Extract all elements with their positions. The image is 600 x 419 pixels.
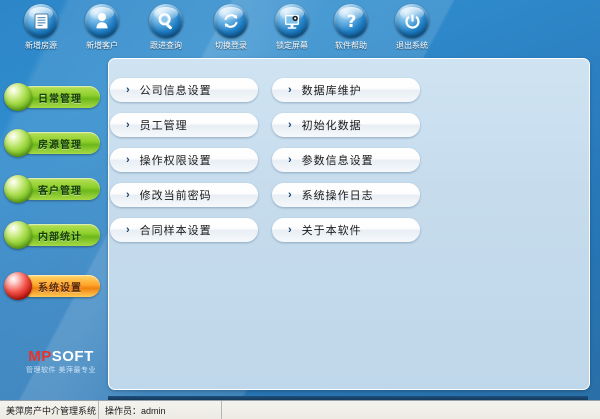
toolbar-label: 新增房源: [10, 41, 72, 51]
logo-mark-mp: MP: [28, 348, 52, 365]
sidebar-orb-icon: [4, 129, 32, 157]
menu-button-label: 员工管理: [140, 117, 188, 133]
sidebar-item-label: 系统设置: [38, 279, 82, 294]
logo-wordmark: MPSOFT: [18, 348, 104, 365]
menu-button-label: 修改当前密码: [140, 187, 212, 203]
menu-button-label: 初始化数据: [302, 117, 362, 133]
toolbar-button-new-property[interactable]: 新增房源: [10, 4, 72, 51]
chevron-right-icon: ›: [288, 85, 292, 96]
statusbar-operator: 操作员：admin: [99, 401, 222, 419]
toolbar-label: 软件帮助: [320, 41, 382, 51]
menu-button-contract-template-settings[interactable]: › 合同样本设置: [110, 218, 258, 242]
chevron-right-icon: ›: [126, 85, 130, 96]
sidebar-item-internal-statistics[interactable]: 内部统计: [2, 220, 102, 250]
sidebar-item-label: 日常管理: [38, 90, 82, 105]
chevron-right-icon: ›: [288, 120, 292, 131]
sidebar-item-system-settings[interactable]: 系统设置: [2, 271, 102, 301]
menu-button-parameter-info-settings[interactable]: › 参数信息设置: [272, 148, 420, 172]
menu-button-employee-management[interactable]: › 员工管理: [110, 113, 258, 137]
menu-button-label: 关于本软件: [302, 222, 362, 238]
toolbar-button-followup-query[interactable]: 跟进查询: [135, 4, 197, 51]
settings-button-grid: › 公司信息设置 › 数据库维护 › 员工管理 › 初始化数据 › 操作权限设置…: [110, 78, 420, 242]
chevron-right-icon: ›: [288, 225, 292, 236]
sidebar-orb-icon: [4, 221, 32, 249]
refresh-icon: [214, 4, 248, 38]
toolbar-button-help[interactable]: ? 软件帮助: [320, 4, 382, 51]
menu-button-system-operation-log[interactable]: › 系统操作日志: [272, 183, 420, 207]
search-icon: [149, 4, 183, 38]
sidebar-item-customer-management[interactable]: 客户管理: [2, 174, 102, 204]
sidebar-item-property-management[interactable]: 房源管理: [2, 128, 102, 158]
toolbar-button-new-customer[interactable]: 新增客户: [71, 4, 133, 51]
statusbar-extra: [222, 401, 600, 419]
menu-button-label: 公司信息设置: [140, 82, 212, 98]
toolbar-label: 跟进查询: [135, 41, 197, 51]
sidebar-pill: 系统设置: [20, 275, 100, 297]
logo-tagline: 管理软件 美萍最专业: [18, 366, 104, 375]
menu-button-label: 数据库维护: [302, 82, 362, 98]
menu-button-initialize-data[interactable]: › 初始化数据: [272, 113, 420, 137]
chevron-right-icon: ›: [126, 190, 130, 201]
main-toolbar: 新增房源 新增客户 跟进查询: [0, 0, 600, 57]
menu-button-database-maintenance[interactable]: › 数据库维护: [272, 78, 420, 102]
svg-text:?: ?: [346, 12, 356, 31]
document-icon: [24, 4, 58, 38]
menu-button-label: 参数信息设置: [302, 152, 374, 168]
toolbar-label: 锁定屏幕: [261, 41, 323, 51]
menu-button-label: 合同样本设置: [140, 222, 212, 238]
power-icon: [395, 4, 429, 38]
sidebar-pill: 日常管理: [20, 86, 100, 108]
brand-logo: MPSOFT 管理软件 美萍最专业: [18, 348, 104, 382]
chevron-right-icon: ›: [126, 155, 130, 166]
sidebar-pill: 房源管理: [20, 132, 100, 154]
sidebar-item-label: 房源管理: [38, 136, 82, 151]
toolbar-button-lock-screen[interactable]: 锁定屏幕: [261, 4, 323, 51]
toolbar-button-exit[interactable]: 退出系统: [381, 4, 443, 51]
application-window: 新增房源 新增客户 跟进查询: [0, 0, 600, 419]
sidebar-pill: 客户管理: [20, 178, 100, 200]
menu-button-about-software[interactable]: › 关于本软件: [272, 218, 420, 242]
question-icon: ?: [334, 4, 368, 38]
menu-button-label: 系统操作日志: [302, 187, 374, 203]
toolbar-label: 切换登录: [200, 41, 262, 51]
monitor-lock-icon: [275, 4, 309, 38]
toolbar-button-switch-login[interactable]: 切换登录: [200, 4, 262, 51]
toolbar-label: 退出系统: [381, 41, 443, 51]
sidebar-orb-icon: [4, 83, 32, 111]
sidebar-item-label: 内部统计: [38, 228, 82, 243]
chevron-right-icon: ›: [288, 190, 292, 201]
sidebar-item-daily-management[interactable]: 日常管理: [2, 82, 102, 112]
menu-button-operation-permission-settings[interactable]: › 操作权限设置: [110, 148, 258, 172]
sidebar-pill: 内部统计: [20, 224, 100, 246]
menu-button-label: 操作权限设置: [140, 152, 212, 168]
toolbar-label: 新增客户: [71, 41, 133, 51]
chevron-right-icon: ›: [126, 225, 130, 236]
chevron-right-icon: ›: [288, 155, 292, 166]
sidebar-item-label: 客户管理: [38, 182, 82, 197]
sidebar-orb-icon: [4, 175, 32, 203]
sidebar-orb-icon: [4, 272, 32, 300]
status-bar: 美萍房产中介管理系统 操作员：admin: [0, 400, 600, 419]
chevron-right-icon: ›: [126, 120, 130, 131]
logo-mark-soft: SOFT: [52, 348, 94, 365]
menu-button-company-info-settings[interactable]: › 公司信息设置: [110, 78, 258, 102]
menu-button-change-password[interactable]: › 修改当前密码: [110, 183, 258, 207]
person-icon: [85, 4, 119, 38]
statusbar-system-name: 美萍房产中介管理系统: [0, 401, 99, 419]
